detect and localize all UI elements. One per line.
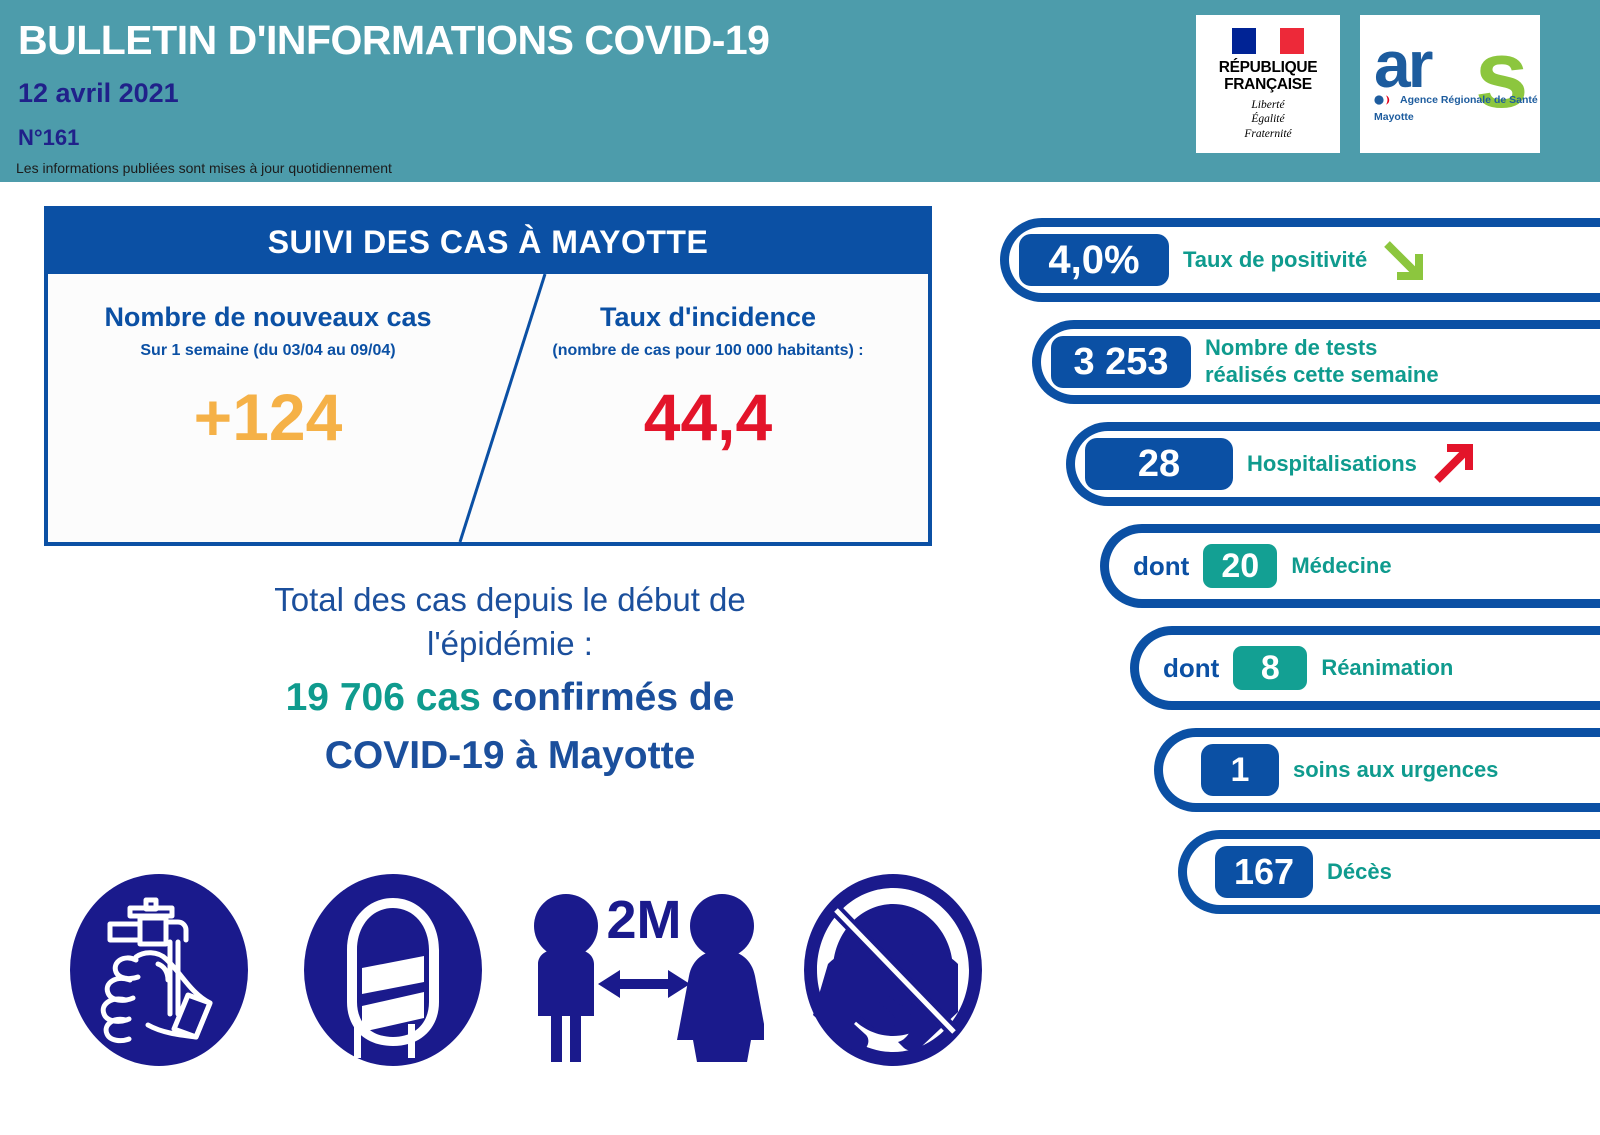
total-cases-count: 19 706 cas	[286, 676, 481, 719]
positivity-value: 4,0%	[1019, 234, 1169, 286]
stat-row-positivity[interactable]: 4,0% Taux de positivité	[1000, 218, 1600, 302]
update-note: Les informations publiées sont mises à j…	[16, 160, 392, 176]
total-lead-line2: l'épidémie :	[150, 622, 870, 666]
stat-row-deces[interactable]: 167 Décès	[1178, 830, 1600, 914]
ars-region: Mayotte	[1374, 111, 1414, 123]
case-tracking-panel: SUIVI DES CAS À MAYOTTE Nombre de nouvea…	[44, 206, 932, 546]
urgences-value: 1	[1201, 744, 1279, 796]
ars-wordmark-s: s	[1475, 27, 1528, 123]
ars-subtitle: Agence Régionale de Santé	[1374, 94, 1538, 106]
tests-value: 3 253	[1051, 336, 1191, 388]
tests-label: Nombre de tests réalisés cette semaine	[1191, 335, 1439, 389]
rf-name: RÉPUBLIQUE FRANÇAISE	[1219, 60, 1318, 93]
new-cases-subheading: Sur 1 semaine (du 03/04 au 09/04)	[140, 342, 395, 360]
incidence-value: 44,4	[644, 384, 772, 450]
medecine-label: Médecine	[1277, 553, 1391, 580]
urgences-label: soins aux urgences	[1279, 757, 1498, 784]
total-cases-block: Total des cas depuis le début de l'épidé…	[150, 578, 870, 783]
page-header: BULLETIN D'INFORMATIONS COVID-19 12 avri…	[0, 0, 1600, 182]
stat-row-reanimation[interactable]: dont 8 Réanimation	[1130, 626, 1600, 710]
no-handshake-icon	[804, 872, 982, 1073]
total-lead-line1: Total des cas depuis le début de	[150, 578, 870, 622]
face-mask-icon	[304, 872, 482, 1073]
deces-label: Décès	[1313, 859, 1392, 886]
medecine-value: 20	[1203, 544, 1277, 588]
bulletin-number: N°161	[18, 125, 79, 151]
republique-francaise-logo: RÉPUBLIQUE FRANÇAISE Liberté Égalité Fra…	[1196, 15, 1340, 153]
page-title: BULLETIN D'INFORMATIONS COVID-19	[18, 17, 770, 64]
distance-text: 2M	[606, 890, 681, 950]
positivity-label: Taux de positivité	[1169, 247, 1367, 274]
panel-body: Nombre de nouveaux cas Sur 1 semaine (du…	[48, 274, 928, 542]
new-cases-heading: Nombre de nouveaux cas	[104, 302, 431, 333]
prevention-icons-row: 2M	[62, 872, 962, 1072]
stat-row-urgences[interactable]: 1 soins aux urgences	[1154, 728, 1600, 812]
incidence-heading: Taux d'incidence	[600, 302, 816, 333]
total-main-line2: COVID-19 à Mayotte	[150, 730, 870, 783]
rf-name-line1: RÉPUBLIQUE	[1219, 60, 1318, 77]
stat-row-hospitalisations[interactable]: 28 Hospitalisations	[1066, 422, 1600, 506]
hand-washing-icon	[70, 872, 248, 1073]
social-distancing-icon: 2M	[524, 872, 764, 1073]
marianne-icon	[1255, 31, 1281, 51]
total-main: 19 706 cas confirmés de	[150, 672, 870, 725]
hospitalisations-label: Hospitalisations	[1233, 451, 1417, 478]
stat-row-medecine[interactable]: dont 20 Médecine	[1100, 524, 1600, 608]
bulletin-date: 12 avril 2021	[18, 78, 179, 109]
incidence-rate-column: Taux d'incidence (nombre de cas pour 100…	[488, 274, 928, 542]
new-cases-column: Nombre de nouveaux cas Sur 1 semaine (du…	[48, 274, 488, 542]
rf-motto-fraternite: Fraternité	[1244, 127, 1291, 141]
medecine-prefix: dont	[1119, 551, 1203, 582]
rf-motto-liberte: Liberté	[1244, 98, 1291, 112]
new-cases-value: +124	[194, 384, 343, 450]
trend-down-icon	[1379, 236, 1427, 284]
hospitalisations-value: 28	[1085, 438, 1233, 490]
reanimation-prefix: dont	[1149, 653, 1233, 684]
incidence-subheading: (nombre de cas pour 100 000 habitants) :	[552, 342, 863, 360]
panel-title: SUIVI DES CAS À MAYOTTE	[48, 210, 928, 274]
deces-value: 167	[1215, 846, 1313, 898]
rf-motto-egalite: Égalité	[1244, 112, 1291, 126]
rf-name-line2: FRANÇAISE	[1219, 77, 1318, 94]
stat-row-tests[interactable]: 3 253 Nombre de tests réalisés cette sem…	[1032, 320, 1600, 404]
ars-wordmark-ar: ar	[1374, 31, 1430, 97]
reanimation-label: Réanimation	[1307, 655, 1453, 682]
trend-up-icon	[1429, 440, 1477, 488]
rf-motto: Liberté Égalité Fraternité	[1244, 98, 1291, 140]
indicators-panel: 4,0% Taux de positivité 3 253 Nombre de …	[990, 218, 1600, 888]
total-main-rest: confirmés de	[481, 676, 735, 719]
ars-logo: s ar Agence Régionale de Santé Mayotte	[1360, 15, 1540, 153]
reanimation-value: 8	[1233, 646, 1307, 690]
french-flag-icon	[1232, 28, 1304, 54]
